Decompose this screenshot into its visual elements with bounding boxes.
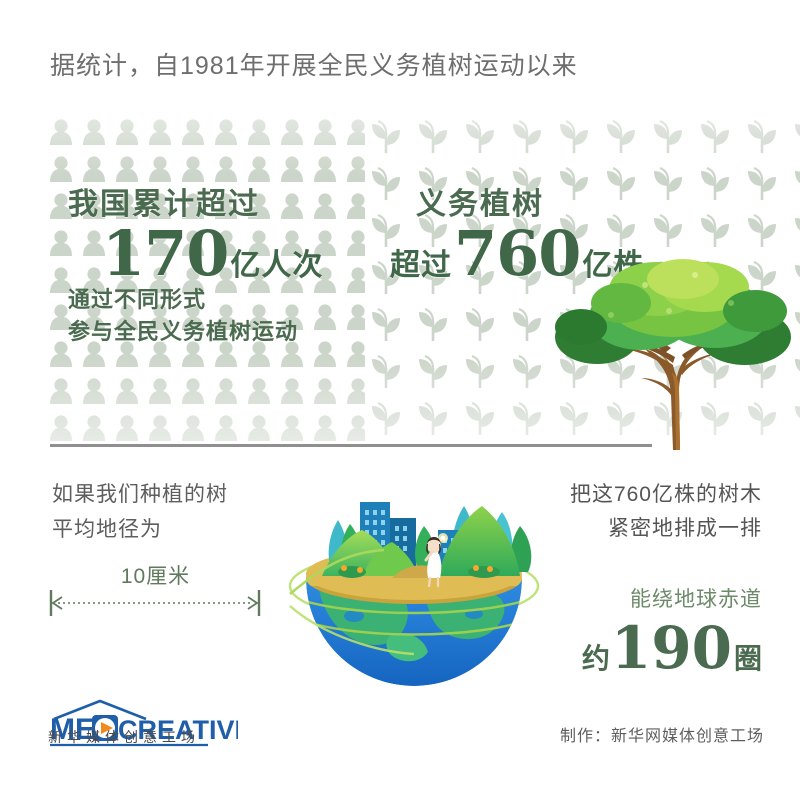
lower-right-unit: 圈 — [734, 637, 762, 677]
section-divider — [50, 444, 652, 447]
diameter-dimension: 10厘米 — [48, 560, 263, 618]
lower-left-line2: 平均地径为 — [52, 513, 228, 548]
lower-right-line3: 能绕地球赤道 — [570, 583, 762, 617]
lower-right-prefix: 约 — [582, 637, 610, 677]
lower-right-value: 约 190 圈 — [570, 619, 762, 677]
stat-right-prefix: 超过 — [390, 240, 452, 284]
stat-left-number: 170 — [102, 223, 228, 285]
globe-city-and-hills — [322, 502, 531, 578]
credit-line: 制作：新华网媒体创意工场 — [560, 722, 764, 746]
stat-left-value: 170 亿人次 — [102, 223, 323, 285]
dimension-label: 10厘米 — [48, 560, 263, 590]
stat-block-left: 我国累计超过 170 亿人次 通过不同形式 参与全民义务植树运动 — [68, 188, 323, 349]
logo-subtitle: 新华媒体创意工场 — [48, 727, 200, 747]
lower-right-text: 把这760亿株的树木 紧密地排成一排 能绕地球赤道 约 190 圈 — [570, 478, 762, 677]
dimension-arrow-icon — [48, 588, 263, 618]
stat-left-sub-line1: 通过不同形式 — [68, 285, 323, 317]
lower-right-line1: 把这760亿株的树木 — [570, 478, 762, 512]
stat-left-unit: 亿人次 — [230, 240, 323, 284]
stat-left-sub-line2: 参与全民义务植树运动 — [68, 317, 323, 349]
page-title: 据统计，自1981年开展全民义务植树运动以来 — [50, 46, 578, 82]
earth-globe-illustration — [288, 466, 540, 688]
lower-right-line2: 紧密地排成一排 — [570, 512, 762, 546]
lower-left-text: 如果我们种植的树 平均地径为 — [52, 478, 228, 547]
tree-canopy — [555, 259, 791, 365]
lower-left-line1: 如果我们种植的树 — [52, 478, 228, 513]
lower-right-number: 190 — [611, 619, 732, 677]
infographic-page: 据统计，自1981年开展全民义务植树运动以来 — [0, 0, 800, 800]
tree-illustration — [545, 245, 800, 450]
